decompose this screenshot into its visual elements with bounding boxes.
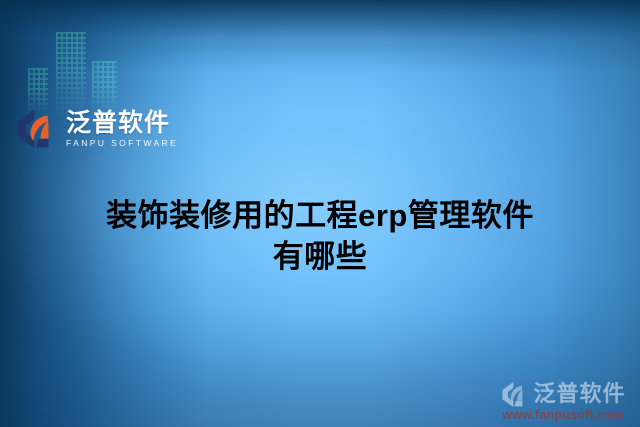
fanpu-logo-mark-icon: [14, 108, 60, 150]
brand-text-block: 泛普软件 FANPU SOFTWARE: [66, 111, 178, 148]
pixel-bar-chart-motif: [28, 28, 118, 116]
brand-name-cn: 泛普软件: [66, 111, 178, 136]
brand-logo: 泛普软件 FANPU SOFTWARE: [14, 108, 178, 150]
headline-line-1: 装饰装修用的工程erp管理软件: [0, 196, 640, 237]
watermark-logo-row: 泛普软件: [492, 381, 634, 408]
fanpu-logo-mark-icon: [500, 381, 530, 408]
watermark-name-cn: 泛普软件: [533, 383, 625, 405]
pixel-bar-middle: [56, 32, 86, 116]
headline: 装饰装修用的工程erp管理软件 有哪些: [0, 196, 640, 278]
headline-line-2: 有哪些: [0, 237, 640, 278]
promo-banner: 泛普软件 FANPU SOFTWARE 装饰装修用的工程erp管理软件 有哪些 …: [0, 0, 640, 427]
watermark: 泛普软件 www.fanpusoft.com: [492, 381, 634, 422]
watermark-url: www.fanpusoft.com: [492, 409, 634, 422]
brand-name-en: FANPU SOFTWARE: [66, 139, 178, 148]
